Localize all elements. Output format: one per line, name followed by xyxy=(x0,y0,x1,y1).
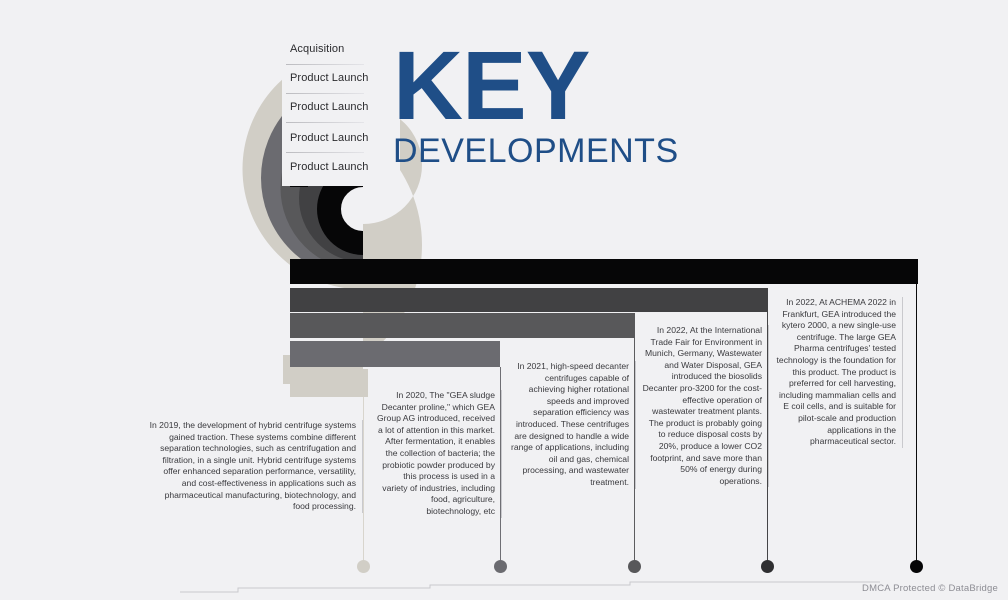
connector-stem-5 xyxy=(916,284,917,561)
legend-item-1[interactable]: Product Launch xyxy=(290,72,368,84)
legend-divider-3 xyxy=(286,152,364,153)
timeline-dot-5[interactable] xyxy=(910,560,923,573)
legend-item-3[interactable]: Product Launch xyxy=(290,132,368,144)
legend-divider-1 xyxy=(286,93,364,94)
legend-label: Acquisition xyxy=(290,43,344,55)
description-text: In 2022, At ACHEMA 2022 in Frankfurt, GE… xyxy=(777,297,896,446)
description-text: In 2021, high-speed decanter centrifuges… xyxy=(511,361,629,487)
title-primary: KEY xyxy=(393,40,679,132)
watermark-text: DMCA Protected © DataBridge xyxy=(862,583,998,594)
description-3: In 2021, high-speed decanter centrifuges… xyxy=(510,361,636,489)
description-2: In 2020, The "GEA sludge Decanter prolin… xyxy=(376,390,502,518)
timeline-dot-1[interactable] xyxy=(357,560,370,573)
description-5: In 2022, At ACHEMA 2022 in Frankfurt, GE… xyxy=(775,297,903,448)
description-text: In 2019, the development of hybrid centr… xyxy=(150,420,356,511)
legend-panel: Acquisition Product Launch Product Launc… xyxy=(282,28,400,186)
connector-stem-1 xyxy=(363,397,364,561)
timeline-dot-4[interactable] xyxy=(761,560,774,573)
legend-label: Product Launch xyxy=(290,72,368,84)
legend-label: Product Launch xyxy=(290,161,368,173)
legend-item-0[interactable]: Acquisition xyxy=(290,43,344,55)
legend-divider-2 xyxy=(286,122,364,123)
description-1: In 2019, the development of hybrid centr… xyxy=(148,420,363,513)
description-text: In 2022, At the International Trade Fair… xyxy=(643,325,762,486)
description-text: In 2020, The "GEA sludge Decanter prolin… xyxy=(377,390,495,516)
title-secondary: DEVELOPMENTS xyxy=(393,134,679,168)
legend-label: Product Launch xyxy=(290,101,368,113)
title-block: KEY DEVELOPMENTS xyxy=(393,40,679,168)
legend-divider-0 xyxy=(286,64,364,65)
description-4: In 2022, At the International Trade Fair… xyxy=(642,325,769,487)
legend-item-4[interactable]: Product Launch xyxy=(290,161,368,173)
legend-label: Product Launch xyxy=(290,132,368,144)
legend-item-2[interactable]: Product Launch xyxy=(290,101,368,113)
timeline-dot-2[interactable] xyxy=(494,560,507,573)
infographic-canvas: Acquisition Product Launch Product Launc… xyxy=(0,0,1008,600)
timeline-dot-3[interactable] xyxy=(628,560,641,573)
